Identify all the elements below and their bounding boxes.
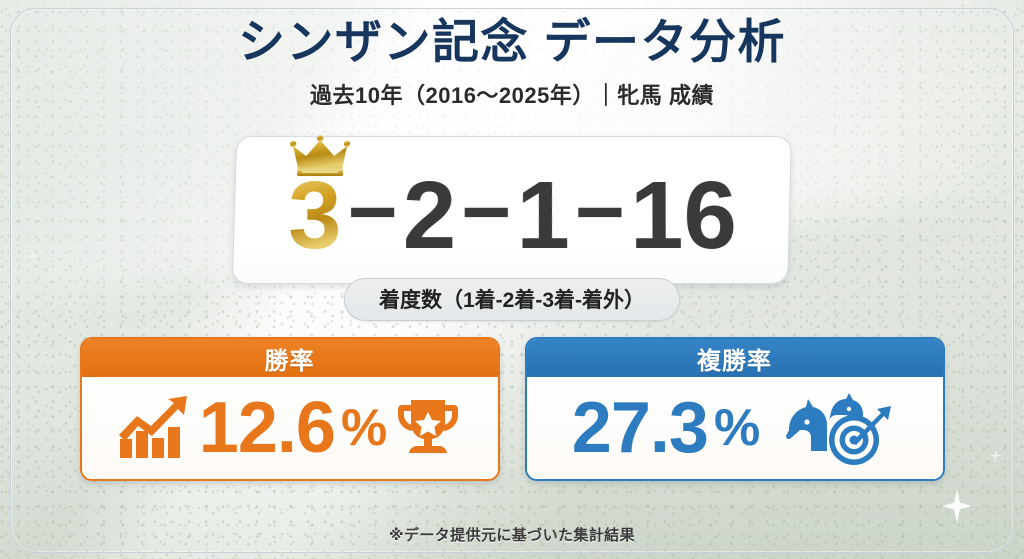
header: シンザン記念 データ分析 過去10年（2016〜2025年）｜牝馬 成績 <box>0 14 1024 110</box>
place-rate-percent-sign: % <box>714 402 759 454</box>
record-first-place: 3 <box>286 168 344 264</box>
win-rate-percent-sign: % <box>341 402 386 454</box>
footer-note: ※データ提供元に基づいた集計結果 <box>0 524 1024 545</box>
card-header-win-rate: 勝率 <box>82 339 498 377</box>
record-outside-place: 16 <box>629 168 738 264</box>
record-line: 3 − 2 − 1 − 16 <box>286 168 738 264</box>
chart-up-icon <box>115 393 193 463</box>
record-third-place: 1 <box>515 168 570 264</box>
page-subtitle: 過去10年（2016〜2025年）｜牝馬 成績 <box>0 78 1024 110</box>
win-rate-value: 12.6 <box>199 392 335 464</box>
record-panel-inner: 3 − 2 − 1 − 16 <box>235 137 789 283</box>
record-section: 3 − 2 − 1 − 16 着度数（1着-2着-3着-着外） <box>0 136 1024 284</box>
record-separator: − <box>571 169 629 255</box>
trophy-icon <box>392 392 464 464</box>
card-header-place-rate: 複勝率 <box>527 339 943 377</box>
crown-icon <box>290 135 350 179</box>
record-separator: − <box>457 169 515 255</box>
record-separator: − <box>343 169 401 255</box>
stat-cards: 勝率 12.6 % 複勝率 27.3 <box>0 337 1024 481</box>
record-caption: 着度数（1着-2着-3着-着外） <box>344 278 680 321</box>
stat-card-place-rate: 複勝率 27.3 % <box>525 337 945 481</box>
record-panel: 3 − 2 − 1 − 16 <box>232 136 792 284</box>
place-rate-value: 27.3 <box>572 392 708 464</box>
stat-card-win-rate: 勝率 12.6 % <box>80 337 500 481</box>
card-body-place-rate: 27.3 % <box>527 377 943 479</box>
record-second-place: 2 <box>402 168 457 264</box>
horses-target-icon <box>773 388 897 468</box>
infographic-stage: シンザン記念 データ分析 過去10年（2016〜2025年）｜牝馬 成績 <box>0 0 1024 559</box>
card-body-win-rate: 12.6 % <box>82 377 498 479</box>
page-title: シンザン記念 データ分析 <box>0 14 1024 69</box>
